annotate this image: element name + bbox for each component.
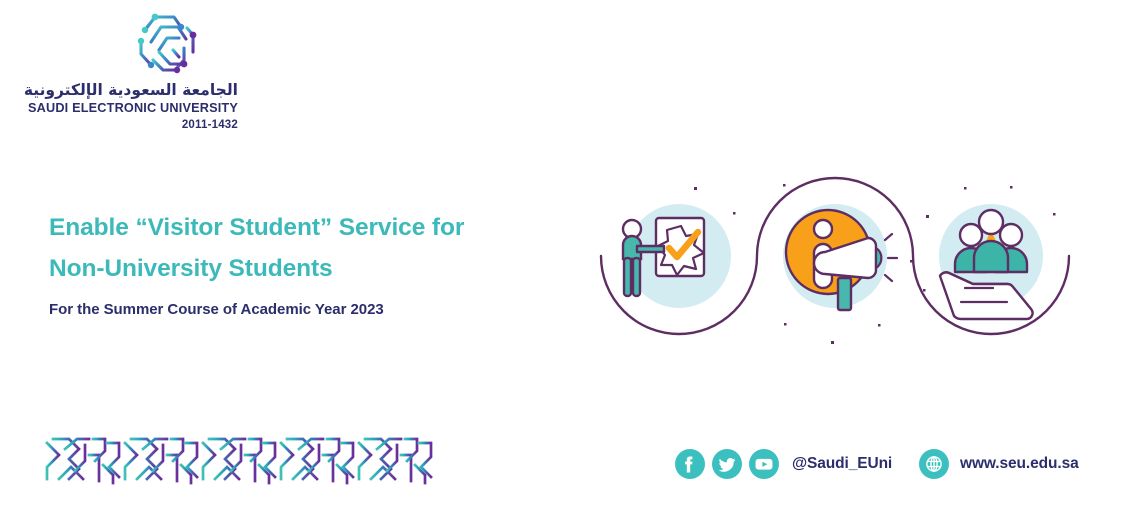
page-title: Enable “Visitor Student” Service for Non… [49,207,569,289]
university-logo-block: الجامعة السعودية الإلكترونية SAUDI ELECT… [18,8,238,131]
headline-line-2: Non-University Students [49,248,569,289]
logo-founding-years: 2011-1432 [18,119,238,131]
headline-line-1: Enable “Visitor Student” Service for [49,207,569,248]
social-handle: @Saudi_EUni [792,455,892,473]
footer-website-group: www.seu.edu.sa [919,449,1079,479]
logo-arabic-name: الجامعة السعودية الإلكترونية [18,82,238,100]
twitter-icon[interactable] [712,449,742,479]
circuit-maze-pattern [45,437,440,485]
megaphone-info-icon [783,204,897,310]
presenter-board-icon [623,204,731,308]
youtube-icon[interactable] [749,449,779,479]
page-subtitle: For the Summer Course of Academic Year 2… [49,301,384,318]
hand-holding-people-icon [939,204,1043,319]
globe-icon[interactable] [919,449,949,479]
facebook-icon[interactable] [675,449,705,479]
website-url: www.seu.edu.sa [960,455,1079,473]
footer-social-group: @Saudi_EUni [675,449,892,479]
seu-hexagon-circuit-logo [129,8,204,80]
logo-english-name: SAUDI ELECTRONIC UNIVERSITY [18,101,238,117]
three-step-wave-illustration [585,160,1085,360]
